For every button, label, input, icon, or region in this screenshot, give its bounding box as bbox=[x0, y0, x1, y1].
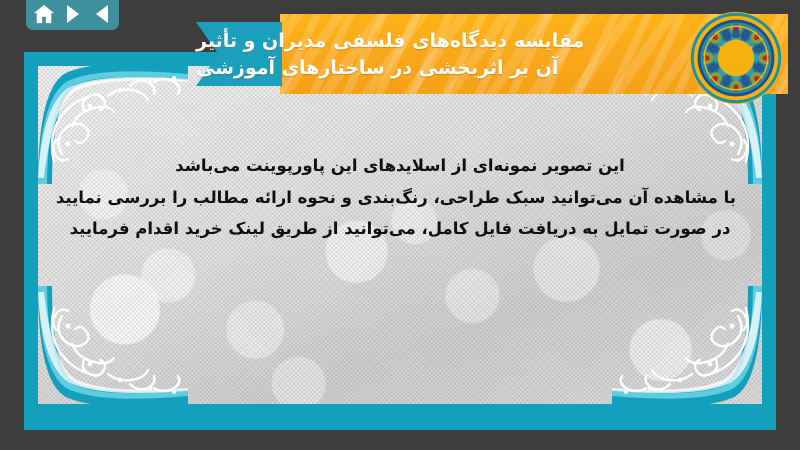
title-banner: مقایسه دیدگاه‌های فلسفی مدیران و تأثیر آ… bbox=[196, 14, 788, 96]
slide-content-area: این تصویر نمونه‌ای از اسلایدهای این پاور… bbox=[38, 66, 762, 404]
forward-arrow-icon bbox=[67, 5, 79, 23]
back-arrow-icon bbox=[96, 5, 108, 23]
home-icon bbox=[33, 4, 55, 24]
title-line: آن بر اثربخشی در ساختارهای آموزشی bbox=[196, 55, 558, 82]
nav-toolbar bbox=[26, 0, 119, 30]
home-button[interactable] bbox=[33, 3, 55, 25]
page-title: مقایسه دیدگاه‌های فلسفی مدیران و تأثیر آ… bbox=[196, 14, 788, 96]
slide-panel: این تصویر نمونه‌ای از اسلایدهای این پاور… bbox=[24, 52, 776, 430]
arabesque-corner-icon bbox=[612, 286, 762, 404]
back-button[interactable] bbox=[91, 3, 113, 25]
title-line: مقایسه دیدگاه‌های فلسفی مدیران و تأثیر bbox=[196, 28, 584, 55]
body-line: این تصویر نمونه‌ای از اسلایدهای این پاور… bbox=[64, 150, 736, 182]
forward-button[interactable] bbox=[62, 3, 84, 25]
slide-body-text: این تصویر نمونه‌ای از اسلایدهای این پاور… bbox=[38, 150, 762, 245]
body-line: در صورت تمایل به دریافت فایل کامل، می‌تو… bbox=[64, 213, 736, 245]
body-line: با مشاهده آن می‌توانید سبک طراحی، رنگ‌بن… bbox=[64, 182, 736, 214]
arabesque-corner-icon bbox=[38, 286, 188, 404]
